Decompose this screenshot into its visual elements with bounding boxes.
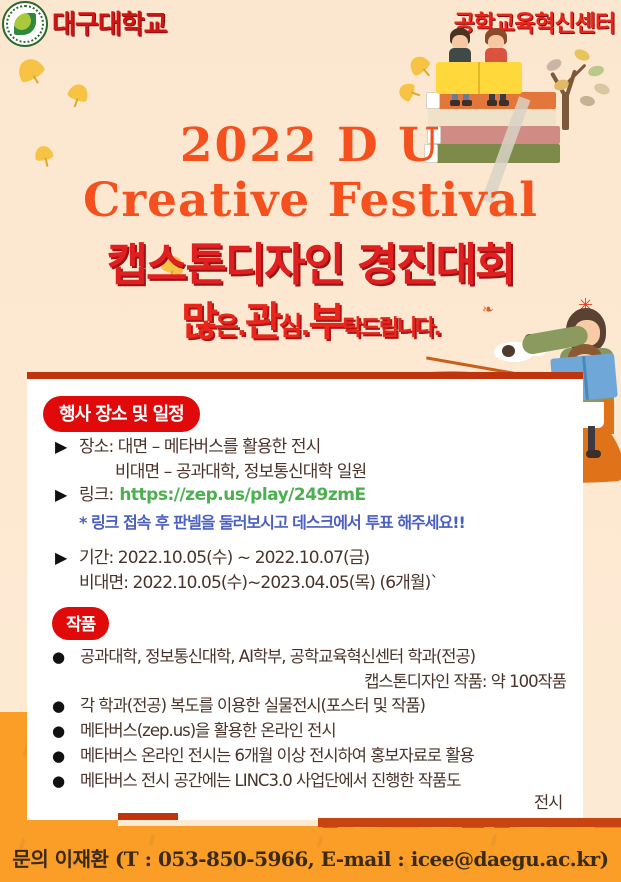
title-line-3: 캡스톤디자인 경진대회: [0, 228, 621, 293]
round-bullet-icon: ●: [52, 645, 80, 669]
row-spacer: [55, 533, 575, 547]
forest-ground-strip: [318, 818, 621, 827]
works-bullet-list: ● 공과대학, 정보통신대학, AI학부, 공학교육혁신센터 학과(전공) 캡스…: [52, 645, 592, 794]
link-row[interactable]: ▶ 링크: https://zep.us/play/249zmE: [55, 484, 575, 507]
triangle-bullet-icon: ▶: [55, 547, 79, 569]
title-l4-seg5: 부: [308, 299, 342, 345]
works-bullet-2: 각 학과(전공) 복도를 이용한 실물전시(포스터 및 작품): [80, 694, 425, 718]
title-l4-seg3: 관: [245, 299, 279, 345]
tree-leaf: [573, 47, 592, 63]
footer-contact: 문의 이재환 (T : 053-850-5966, E-mail : icee@…: [0, 843, 621, 872]
tree-leaf: [545, 57, 564, 74]
tree-branch: [566, 64, 587, 85]
period-online-text: 비대면: 2022.10.05(수)~2023.04.05(목) (6개월)`: [79, 572, 575, 595]
period-row: ▶ 기간: 2022.10.05(수) ~ 2022.10.07(금): [55, 547, 575, 570]
list-item: ● 각 학과(전공) 복도를 이용한 실물전시(포스터 및 작품): [52, 694, 592, 718]
title-line-1: 2022 D U: [0, 118, 621, 173]
title-l4-seg4: 심.: [279, 312, 309, 342]
works-bullet-1: 공과대학, 정보통신대학, AI학부, 공학교육혁신센터 학과(전공): [80, 645, 475, 669]
child-shoe-2: [586, 450, 601, 458]
works-bullet-1-continuation: 캡스톤디자인 작품: 약 100작품: [52, 670, 566, 694]
title-line-2: Creative Festival: [0, 173, 621, 228]
list-item: ● 메타버스(zep.us)을 활용한 온라인 전시: [52, 719, 592, 743]
section-venue-schedule-header: 행사 장소 및 일정: [43, 396, 200, 432]
info-panel-top-border: [27, 372, 583, 379]
venue-row-onsite: ▶ 장소: 대면 – 메타버스를 활용한 전시: [55, 436, 575, 459]
tree-leaf: [579, 95, 596, 107]
shoe-boy-2: [462, 100, 472, 106]
university-logo-icon: [2, 1, 48, 47]
maple-leaf-icon: ❧: [482, 302, 494, 316]
tree-leaf: [593, 82, 611, 97]
shoe-girl-2: [499, 100, 509, 106]
venue-schedule-rows: ▶ 장소: 대면 – 메타버스를 활용한 전시 비대면 – 공과대학, 정보통신…: [55, 436, 575, 595]
round-bullet-icon: ●: [52, 719, 80, 743]
list-item: ● 공과대학, 정보통신대학, AI학부, 공학교육혁신센터 학과(전공): [52, 645, 592, 669]
event-link-url[interactable]: https://zep.us/play/249zmE: [119, 484, 365, 507]
open-yellow-book-spine: [478, 62, 480, 94]
period-onsite-text: 기간: 2022.10.05(수) ~ 2022.10.07(금): [79, 547, 369, 570]
child-leg-2: [588, 426, 595, 452]
info-panel-bottom-border: [118, 813, 178, 820]
logo-ring: [6, 5, 44, 43]
works-bullet-3: 메타버스(zep.us)을 활용한 온라인 전시: [80, 719, 336, 743]
shoe-girl: [487, 100, 497, 106]
works-bullet-5-continuation: 전시: [534, 789, 562, 813]
title-l4-seg2: 은.: [215, 312, 245, 342]
section-works-header: 작품: [52, 607, 109, 640]
poster-canvas: 대구대학교 공학교육혁신센터: [0, 0, 621, 882]
badge-venue-schedule: 행사 장소 및 일정: [43, 396, 200, 432]
round-bullet-icon: ●: [52, 744, 80, 768]
shoe-boy: [450, 100, 460, 106]
book-orange-pages: [426, 92, 440, 109]
title-l4-seg6: 탁드립니다.: [342, 316, 440, 341]
works-bullet-4: 메타버스 온라인 전시는 6개월 이상 전시하여 홍보자료로 활용: [80, 744, 474, 768]
venue-onsite-text: 장소: 대면 – 메타버스를 활용한 전시: [79, 436, 320, 459]
tree-leaf: [587, 64, 605, 78]
dog-spot: [502, 345, 515, 357]
header-university-name: 대구대학교: [52, 4, 167, 41]
triangle-bullet-icon: ▶: [55, 436, 79, 458]
logo-leaf-shape: [14, 13, 36, 35]
link-label: 링크:: [79, 484, 113, 507]
venue-offsite-text: 비대면 – 공과대학, 정보통신대학 일원: [115, 461, 575, 484]
triangle-bullet-icon: ▶: [55, 484, 79, 506]
header-center-name: 공학교육혁신센터: [454, 4, 615, 38]
list-item: ● 메타버스 온라인 전시는 6개월 이상 전시하여 홍보자료로 활용: [52, 744, 592, 768]
link-note: * 링크 접속 후 판넬을 둘러보시고 데스크에서 투표 해주세요!!: [79, 509, 575, 533]
round-bullet-icon: ●: [52, 694, 80, 718]
autumn-tree-illustration: [540, 40, 620, 130]
badge-works: 작품: [52, 607, 109, 640]
title-l4-seg1: 많: [181, 299, 215, 345]
round-bullet-icon: ●: [52, 769, 80, 793]
